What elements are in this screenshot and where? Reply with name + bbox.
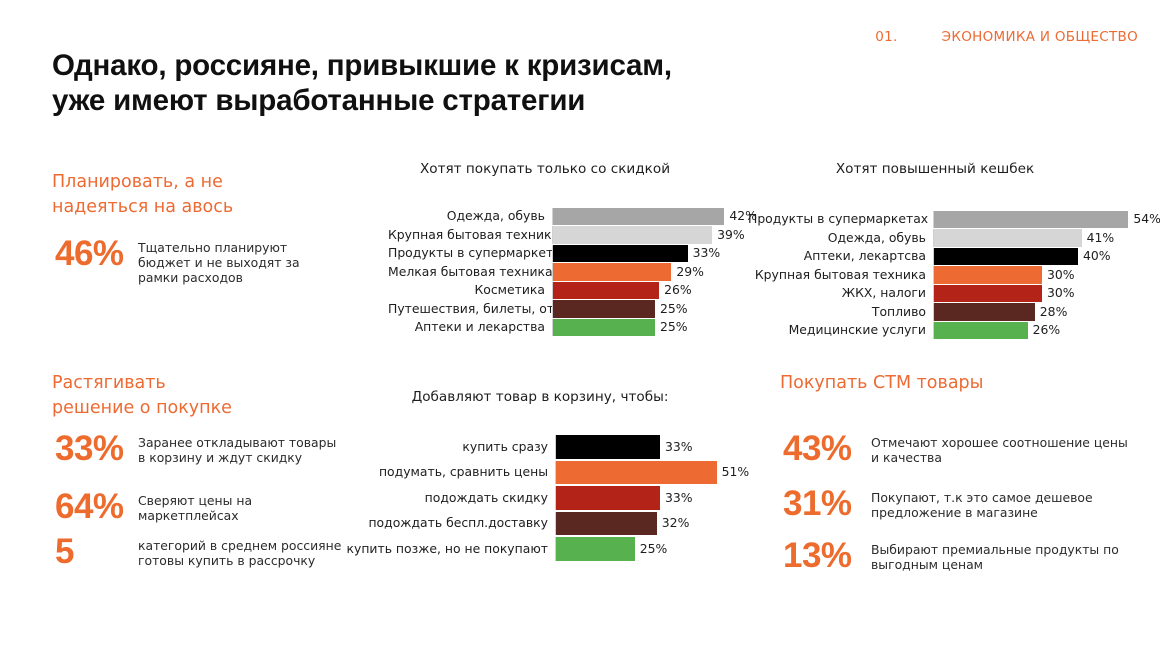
chart-category-label: Мелкая бытовая техника: [388, 266, 552, 278]
chart-value-label: 25%: [635, 543, 668, 555]
chart-value-label: 25%: [655, 321, 688, 333]
chart-bar-track: 39%: [552, 226, 748, 243]
chart-bar-track: 32%: [555, 512, 745, 536]
page-title: Однако, россияне, привыкшие к кризисам, …: [52, 48, 772, 118]
header-eyebrow: 01. ЭКОНОМИКА И ОБЩЕСТВО: [875, 29, 1138, 45]
chart-category-label: Медицинские услуги: [748, 324, 933, 336]
chart-bar-track: 40%: [933, 248, 1148, 265]
chart-value-label: 54%: [1128, 213, 1160, 225]
chart-bar-track: 29%: [552, 263, 748, 280]
chart-discount-title: Хотят покупать только со скидкой: [380, 161, 710, 177]
chart-bar: [934, 248, 1078, 265]
chart-bar-track: 30%: [933, 266, 1148, 283]
chart-category-label: Одежда, обувь: [748, 232, 933, 244]
chart-bar-row: Одежда, обувь42%: [388, 208, 748, 225]
chart-category-label: купить позже, но не покупают: [345, 543, 555, 555]
chart-value-label: 25%: [655, 303, 688, 315]
chart-bar: [556, 435, 660, 459]
stat-description: Покупают, т.к это самое дешевое предложе…: [871, 487, 1136, 520]
chart-bar-row: подумать, сравнить цены51%: [345, 461, 745, 485]
chart-cart-title: Добавляют товар в корзину, чтобы:: [340, 389, 740, 405]
page-title-line2: уже имеют выработанные стратегии: [52, 83, 772, 118]
chart-value-label: 33%: [660, 441, 693, 453]
chart-bar: [934, 303, 1035, 320]
chart-value-label: 51%: [717, 466, 750, 478]
chart-category-label: подумать, сравнить цены: [345, 466, 555, 478]
section-heading-stretch-line2: решение о покупке: [52, 396, 352, 421]
chart-bar: [934, 266, 1042, 283]
chart-bar-track: 25%: [552, 319, 748, 336]
chart-bar-row: подождать беспл.доставку32%: [345, 512, 745, 536]
stat-value: 5: [55, 535, 138, 569]
section-heading-stretch: Растягивать решение о покупке: [52, 371, 352, 421]
chart-bar-row: Топливо28%: [748, 303, 1148, 320]
chart-bar-track: 42%: [552, 208, 757, 225]
chart-value-label: 26%: [1028, 324, 1061, 336]
section-name: ЭКОНОМИКА И ОБЩЕСТВО: [942, 29, 1138, 45]
chart-category-label: ЖКХ, налоги: [748, 287, 933, 299]
chart-category-label: Топливо: [748, 306, 933, 318]
chart-bar: [553, 208, 724, 225]
chart-bar-track: 41%: [933, 229, 1148, 246]
chart-value-label: 33%: [660, 492, 693, 504]
chart-bar-track: 33%: [555, 486, 745, 510]
chart-category-label: Продукты в супермаркетах: [388, 247, 552, 259]
chart-discount-rows: Одежда, обувь42%Крупная бытовая техника3…: [388, 208, 748, 337]
chart-category-label: Продукты в супермаркетах: [748, 213, 933, 225]
chart-category-label: подождать скидку: [345, 492, 555, 504]
chart-category-label: Крупная бытовая техника: [388, 229, 552, 241]
stat-row: 43% Отмечают хорошее соотношение цены и …: [783, 432, 1143, 466]
chart-bar-track: 30%: [933, 285, 1148, 302]
chart-cashback-rows: Продукты в супермаркетах54%Одежда, обувь…: [748, 211, 1148, 340]
section-heading-plan-line1: Планировать, а не: [52, 170, 352, 195]
chart-bar-track: 25%: [552, 300, 748, 317]
chart-category-label: Аптеки, лекартсва: [748, 250, 933, 262]
stat-row: 31% Покупают, т.к это самое дешевое пред…: [783, 487, 1143, 521]
chart-category-label: Одежда, обувь: [388, 210, 552, 222]
chart-bar: [553, 263, 671, 280]
stat-description: категорий в среднем россияне готовы купи…: [138, 535, 343, 568]
stat-value: 46%: [55, 237, 138, 271]
stat-description: Заранее откладывают товары в корзину и ж…: [138, 432, 343, 465]
stat-description: Сверяют цены на маркетплейсах: [138, 490, 343, 523]
chart-bar: [934, 229, 1082, 246]
chart-bar-row: подождать скидку33%: [345, 486, 745, 510]
chart-bar-row: Медицинские услуги26%: [748, 322, 1148, 339]
chart-bar-row: Аптеки и лекарства25%: [388, 319, 748, 336]
chart-value-label: 30%: [1042, 287, 1075, 299]
chart-bar: [934, 211, 1128, 228]
chart-value-label: 39%: [712, 229, 745, 241]
chart-value-label: 33%: [688, 247, 721, 259]
chart-value-label: 41%: [1082, 232, 1115, 244]
chart-cashback-title: Хотят повышенный кешбек: [760, 161, 1110, 177]
section-heading-stretch-line1: Растягивать: [52, 371, 352, 396]
chart-bar: [556, 461, 717, 485]
section-heading-stm-line1: Покупать СТМ товары: [780, 371, 1110, 396]
chart-bar-row: купить сразу33%: [345, 435, 745, 459]
chart-bar-track: 51%: [555, 461, 749, 485]
chart-value-label: 32%: [657, 517, 690, 529]
chart-bar: [556, 486, 660, 510]
chart-bar: [553, 226, 712, 243]
chart-bar-track: 26%: [552, 282, 748, 299]
chart-category-label: Аптеки и лекарства: [388, 321, 552, 333]
chart-bar-row: купить позже, но не покупают25%: [345, 537, 745, 561]
chart-value-label: 30%: [1042, 269, 1075, 281]
chart-bar: [553, 282, 659, 299]
section-heading-plan: Планировать, а не надеяться на авось: [52, 170, 352, 220]
stat-value: 33%: [55, 432, 138, 466]
stat-description: Отмечают хорошее соотношение цены и каче…: [871, 432, 1136, 465]
chart-value-label: 29%: [671, 266, 704, 278]
chart-bar-track: 25%: [555, 537, 745, 561]
stat-row: 64% Сверяют цены на маркетплейсах: [55, 490, 355, 524]
chart-bar-row: Косметика26%: [388, 282, 748, 299]
stat-value: 13%: [783, 539, 871, 573]
section-number: 01.: [875, 29, 897, 45]
stat-row: 33% Заранее откладывают товары в корзину…: [55, 432, 355, 466]
stat-value: 43%: [783, 432, 871, 466]
chart-bar-row: Мелкая бытовая техника29%: [388, 263, 748, 280]
chart-bar-track: 54%: [933, 211, 1160, 228]
chart-bar-row: Продукты в супермаркетах54%: [748, 211, 1148, 228]
chart-bar-row: ЖКХ, налоги30%: [748, 285, 1148, 302]
chart-bar-row: Крупная бытовая техника39%: [388, 226, 748, 243]
chart-category-label: Косметика: [388, 284, 552, 296]
section-heading-plan-line2: надеяться на авось: [52, 195, 352, 220]
stat-row: 13% Выбирают премиальные продукты по выг…: [783, 539, 1143, 573]
stat-description: Выбирают премиальные продукты по выгодны…: [871, 539, 1136, 572]
chart-bar-row: Продукты в супермаркетах33%: [388, 245, 748, 262]
chart-bar: [934, 322, 1028, 339]
chart-bar: [934, 285, 1042, 302]
stat-description: Тщательно планируют бюджет и не выходят …: [138, 237, 338, 286]
chart-category-label: подождать беспл.доставку: [345, 517, 555, 529]
chart-bar-track: 28%: [933, 303, 1148, 320]
chart-bar: [553, 245, 688, 262]
chart-cart-rows: купить сразу33%подумать, сравнить цены51…: [345, 435, 745, 563]
chart-category-label: купить сразу: [345, 441, 555, 453]
stat-row: 5 категорий в среднем россияне готовы ку…: [55, 535, 355, 569]
chart-bar-row: Путешествия, билеты, отели25%: [388, 300, 748, 317]
chart-bar: [556, 512, 657, 536]
stat-row: 46% Тщательно планируют бюджет и не выхо…: [55, 237, 355, 286]
chart-bar: [556, 537, 635, 561]
chart-value-label: 40%: [1078, 250, 1111, 262]
chart-bar: [553, 319, 655, 336]
stat-value: 31%: [783, 487, 871, 521]
chart-bar-row: Аптеки, лекартсва40%: [748, 248, 1148, 265]
chart-bar-track: 33%: [552, 245, 748, 262]
chart-bar-row: Крупная бытовая техника30%: [748, 266, 1148, 283]
page-title-line1: Однако, россияне, привыкшие к кризисам,: [52, 49, 672, 82]
chart-category-label: Путешествия, билеты, отели: [388, 303, 552, 315]
stat-value: 64%: [55, 490, 138, 524]
chart-bar-track: 26%: [933, 322, 1148, 339]
section-heading-stm: Покупать СТМ товары: [780, 371, 1110, 396]
chart-bar: [553, 300, 655, 317]
chart-value-label: 28%: [1035, 306, 1068, 318]
chart-bar-track: 33%: [555, 435, 745, 459]
chart-value-label: 26%: [659, 284, 692, 296]
chart-bar-row: Одежда, обувь41%: [748, 229, 1148, 246]
chart-category-label: Крупная бытовая техника: [748, 269, 933, 281]
